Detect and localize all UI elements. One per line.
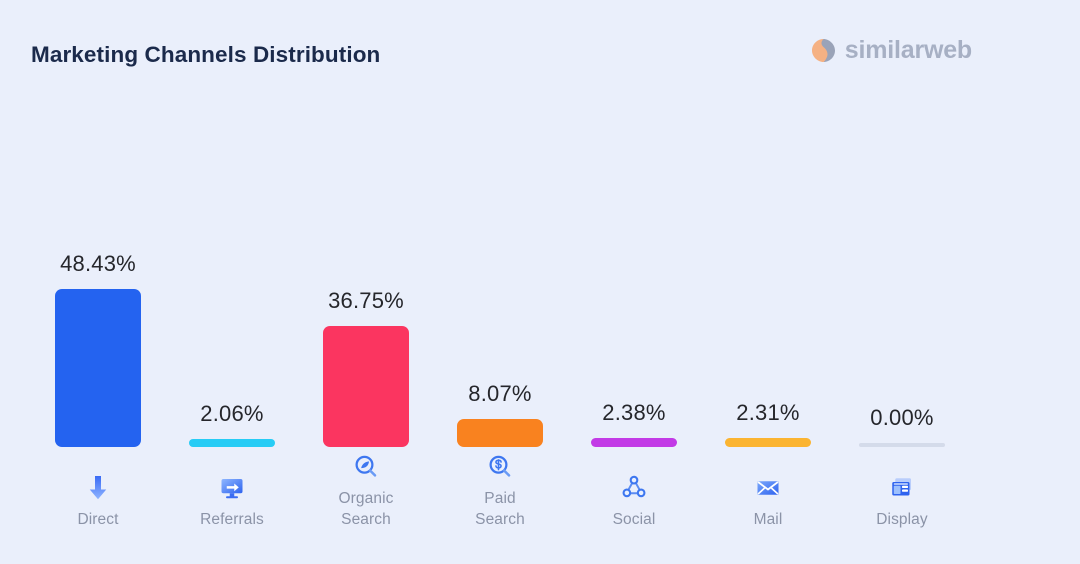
bar-rect-social[interactable] — [591, 438, 677, 447]
bar-rect-organic-search[interactable] — [323, 326, 409, 447]
bar-stack-mail: 2.31% — [701, 400, 835, 447]
bar-rect-display[interactable] — [859, 443, 945, 447]
bar-footer-social: Social — [567, 473, 701, 530]
page-title: Marketing Channels Distribution — [31, 42, 380, 68]
magnifier-dollar-icon — [485, 452, 515, 482]
bar-column-direct[interactable]: 48.43% Direct — [31, 150, 165, 550]
share-network-icon — [619, 473, 649, 503]
bar-column-paid-search[interactable]: 8.07% Paid Search — [433, 150, 567, 550]
bar-value-referrals: 2.06% — [200, 401, 263, 427]
bar-footer-referrals: Referrals — [165, 473, 299, 530]
bar-value-display: 0.00% — [870, 405, 933, 431]
magnifier-leaf-icon — [351, 452, 381, 482]
bar-footer-mail: Mail — [701, 473, 835, 530]
bar-value-mail: 2.31% — [736, 400, 799, 426]
bar-label-organic-search: Organic Search — [339, 489, 394, 530]
bar-column-social[interactable]: 2.38% Social — [567, 150, 701, 550]
bar-value-social: 2.38% — [602, 400, 665, 426]
bar-label-mail: Mail — [754, 510, 783, 530]
bar-stack-paid-search: 8.07% — [433, 381, 567, 447]
bar-rect-paid-search[interactable] — [457, 419, 543, 447]
bar-stack-referrals: 2.06% — [165, 401, 299, 447]
bar-column-mail[interactable]: 2.31% Mail — [701, 150, 835, 550]
bar-plot-area: 48.43% Direct 2.06% — [31, 150, 981, 550]
chart-header: Marketing Channels Distribution similarw… — [0, 0, 1080, 110]
bar-footer-paid-search: Paid Search — [433, 452, 567, 530]
bar-rect-direct[interactable] — [55, 289, 141, 447]
bar-value-paid-search: 8.07% — [468, 381, 531, 407]
bar-stack-social: 2.38% — [567, 400, 701, 447]
bar-footer-display: Display — [835, 473, 969, 530]
bar-column-referrals[interactable]: 2.06% Referrals — [165, 150, 299, 550]
browser-window-icon — [887, 473, 917, 503]
similarweb-yin-yang-icon — [811, 38, 836, 63]
bar-footer-organic-search: Organic Search — [299, 452, 433, 530]
similarweb-logo: similarweb — [811, 38, 972, 63]
bar-value-direct: 48.43% — [60, 251, 136, 277]
bar-label-display: Display — [876, 510, 928, 530]
bar-label-social: Social — [613, 510, 656, 530]
bar-label-paid-search: Paid Search — [475, 489, 525, 530]
similarweb-wordmark: similarweb — [845, 38, 972, 63]
bar-stack-display: 0.00% — [835, 405, 969, 447]
bar-label-referrals: Referrals — [200, 510, 264, 530]
envelope-icon — [753, 473, 783, 503]
bar-stack-direct: 48.43% — [31, 251, 165, 447]
marketing-channels-bar-chart: 48.43% Direct 2.06% — [31, 150, 1049, 550]
bar-column-organic-search[interactable]: 36.75% Organic Search — [299, 150, 433, 550]
download-arrow-icon — [83, 473, 113, 503]
bar-label-direct: Direct — [77, 510, 118, 530]
bar-rect-mail[interactable] — [725, 438, 811, 447]
bar-stack-organic-search: 36.75% — [299, 288, 433, 447]
bar-value-organic-search: 36.75% — [328, 288, 404, 314]
bar-footer-direct: Direct — [31, 473, 165, 530]
monitor-arrow-icon — [217, 473, 247, 503]
bar-column-display[interactable]: 0.00% Display — [835, 150, 969, 550]
bar-rect-referrals[interactable] — [189, 439, 275, 447]
